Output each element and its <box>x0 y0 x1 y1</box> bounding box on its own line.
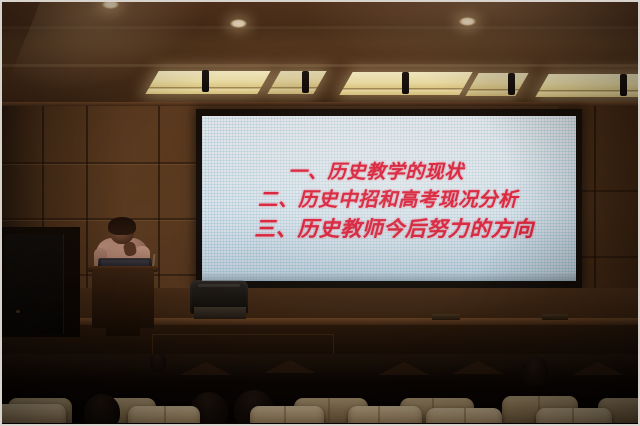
spotlight-icon <box>620 74 627 96</box>
presenter-hair <box>108 217 136 235</box>
spotlight-icon <box>508 73 515 95</box>
audience-head <box>150 354 166 372</box>
stage-chair-highlight <box>198 284 240 287</box>
ceiling <box>2 2 640 106</box>
wall-seam-highlight <box>2 220 196 221</box>
seat-back-silhouette <box>378 362 430 375</box>
wall-seam <box>594 106 596 318</box>
seat-crease <box>328 398 330 426</box>
wall-seam <box>158 106 160 318</box>
stage-table-object <box>542 314 568 320</box>
stage-chair-seat <box>194 307 246 319</box>
audience-head <box>84 394 120 426</box>
loudspeaker-led-icon <box>16 310 20 313</box>
spotlight-icon <box>402 72 409 94</box>
podium-base <box>106 302 140 336</box>
ceiling-beam-upper <box>2 26 640 29</box>
seat-back-silhouette <box>264 360 316 373</box>
spotlight-icon <box>302 71 309 93</box>
loudspeaker-cabinet <box>5 234 64 334</box>
slide-line-1: 一、历史教学的现状 <box>202 163 576 182</box>
stage-table-object <box>432 314 460 320</box>
spotlight-icon <box>202 70 209 92</box>
projection-screen-frame: 一、历史教学的现状 二、历史中招和高考现况分析 三、历史教师今后努力的方向 <box>196 109 582 288</box>
slide-content: 一、历史教学的现状 二、历史中招和高考现况分析 三、历史教师今后努力的方向 <box>202 116 576 281</box>
slide-line-2: 二、历史中招和高考现况分析 <box>202 190 576 210</box>
slide-line-3: 三、历史教师今后努力的方向 <box>202 219 576 240</box>
wall-seam-highlight <box>2 164 196 165</box>
downlight-icon <box>459 17 476 26</box>
audience-seating <box>2 354 640 426</box>
seat-back-silhouette <box>452 361 504 374</box>
wall-seam <box>86 106 88 318</box>
screen-lower-edge <box>202 273 576 281</box>
lecture-hall-photo: 一、历史教学的现状 二、历史中招和高考现况分析 三、历史教师今后努力的方向 <box>0 0 640 426</box>
audience-head <box>522 356 548 386</box>
projection-screen: 一、历史教学的现状 二、历史中招和高考现况分析 三、历史教师今后努力的方向 <box>202 116 576 281</box>
ceiling-beam <box>2 64 640 67</box>
seat-back-silhouette <box>572 362 624 375</box>
seat-back-silhouette <box>180 362 232 375</box>
downlight-icon <box>230 19 247 28</box>
